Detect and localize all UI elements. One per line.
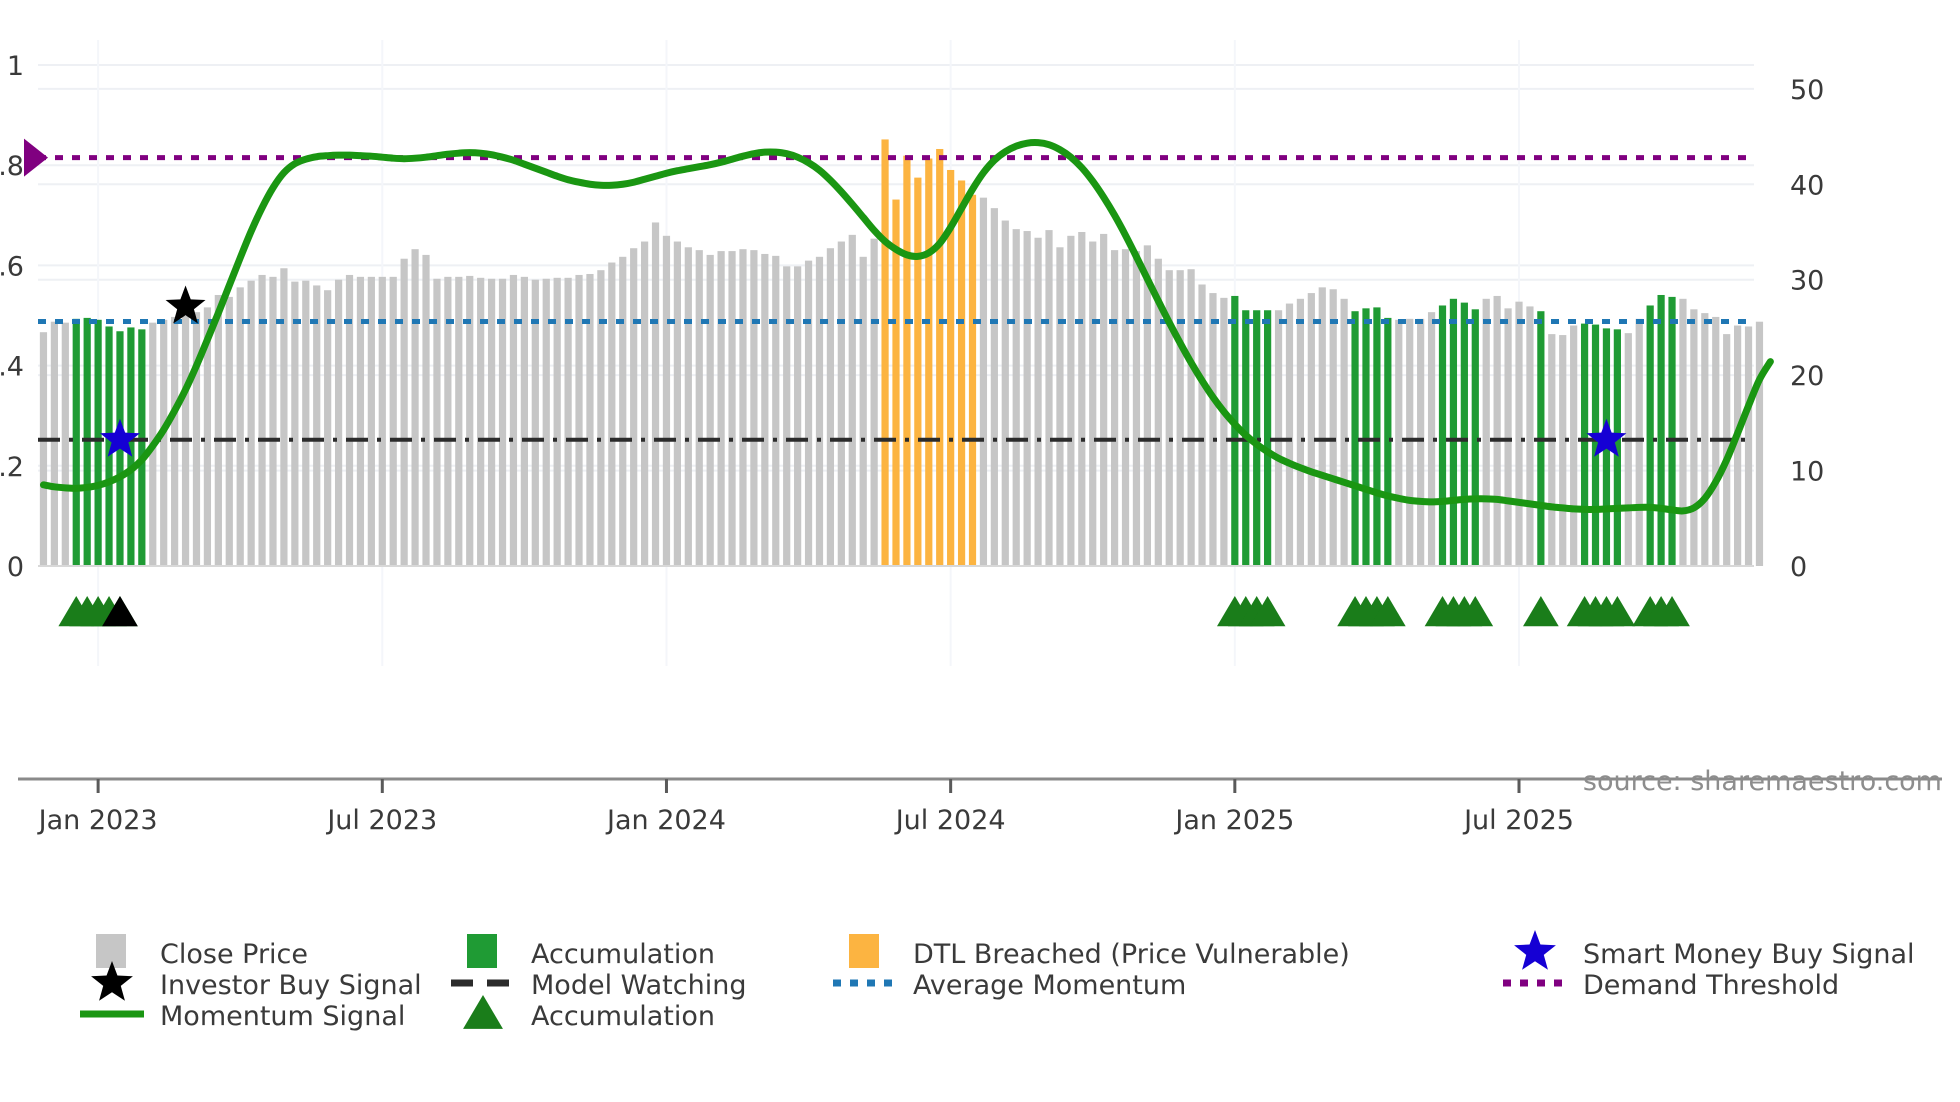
right-axis-tick: 0: [1790, 552, 1807, 583]
bar-close-price: [827, 248, 834, 566]
x-axis-tick-label: Jul 2025: [1462, 805, 1574, 836]
bar-close-price: [1395, 320, 1402, 566]
bar-dtl-breached: [925, 159, 932, 566]
bar-close-price: [794, 266, 801, 566]
bar-close-price: [1286, 304, 1293, 566]
bar-close-price: [980, 198, 987, 566]
bar-close-price: [1483, 299, 1490, 566]
left-axis-tick: 0.8: [0, 151, 24, 182]
bar-close-price: [488, 279, 495, 566]
bar-accumulation: [1384, 318, 1391, 566]
legend-label-accumulation: Accumulation: [531, 1001, 715, 1032]
bar-close-price: [728, 251, 735, 566]
legend-triangle-icon-accumulation: [463, 995, 503, 1029]
bar-close-price: [1177, 270, 1184, 566]
bar-close-price: [1067, 236, 1074, 566]
bar-close-price: [718, 251, 725, 566]
legend-item[interactable]: Accumulation: [463, 995, 715, 1032]
legend-item[interactable]: Smart Money Buy Signal: [1514, 930, 1914, 970]
right-axis-tick: 20: [1790, 361, 1824, 392]
left-axis-tick: 0.4: [0, 352, 24, 383]
bar-close-price: [860, 257, 867, 566]
legend-label-average-momentum: Average Momentum: [913, 970, 1186, 1001]
stock-momentum-chart: 00.20.40.60.8101020304050Jan 2023Jul 202…: [0, 0, 1960, 1102]
legend-swatch-accumulation: [467, 934, 497, 968]
legend-label-accumulation: Accumulation: [531, 939, 715, 970]
bar-close-price: [411, 249, 418, 566]
bar-close-price: [510, 275, 517, 566]
x-axis-tick-label: Jan 2024: [605, 805, 726, 836]
bar-close-price: [696, 250, 703, 566]
bar-close-price: [619, 257, 626, 566]
bar-close-price: [1494, 296, 1501, 566]
legend-item[interactable]: DTL Breached (Price Vulnerable): [849, 934, 1350, 970]
bar-close-price: [40, 332, 47, 566]
bar-close-price: [291, 282, 298, 566]
legend-label-investor-buy-signal: Investor Buy Signal: [160, 970, 422, 1001]
legend-swatch-dtl-breached-price-vulnerable-: [849, 934, 879, 968]
bar-close-price: [1701, 313, 1708, 566]
bar-close-price: [1034, 238, 1041, 566]
bar-close-price: [1089, 242, 1096, 566]
legend-item[interactable]: Momentum Signal: [80, 1001, 405, 1032]
bar-dtl-breached: [958, 180, 965, 566]
right-axis-tick: 30: [1790, 266, 1824, 297]
bar-close-price: [1111, 250, 1118, 566]
bar-dtl-breached: [903, 156, 910, 566]
bar-close-price: [641, 242, 648, 566]
bar-close-price: [630, 248, 637, 566]
bar-accumulation: [1450, 299, 1457, 566]
legend-label-dtl-breached-price-vulnerable-: DTL Breached (Price Vulnerable): [913, 939, 1350, 970]
bar-close-price: [674, 242, 681, 566]
bar-close-price: [1144, 245, 1151, 566]
bar-accumulation: [138, 329, 145, 566]
bar-close-price: [1308, 293, 1315, 566]
bar-close-price: [1013, 229, 1020, 566]
bar-close-price: [280, 268, 287, 566]
bar-close-price: [1133, 251, 1140, 566]
bar-dtl-breached: [881, 139, 888, 566]
bar-close-price: [1526, 306, 1533, 566]
bar-close-price: [1198, 284, 1205, 566]
legend-swatch-close-price: [96, 934, 126, 968]
legend-label-demand-threshold: Demand Threshold: [1583, 970, 1839, 1001]
bar-close-price: [335, 280, 342, 566]
bar-accumulation: [84, 318, 91, 566]
bar-accumulation: [73, 319, 80, 566]
bar-close-price: [1417, 319, 1424, 566]
bar-close-price: [1690, 309, 1697, 566]
bar-close-price: [871, 239, 878, 566]
legend-item[interactable]: Model Watching: [451, 970, 746, 1001]
x-axis-tick-label: Jan 2023: [37, 805, 158, 836]
bar-accumulation: [1472, 309, 1479, 566]
bar-close-price: [1504, 308, 1511, 566]
legend-star-icon-smart-money-buy-signal: [1514, 930, 1556, 970]
chart-root: 00.20.40.60.8101020304050Jan 2023Jul 202…: [0, 0, 1960, 1102]
bar-close-price: [1188, 269, 1195, 566]
bar-accumulation: [1657, 295, 1664, 566]
bar-accumulation: [1647, 305, 1654, 566]
bar-close-price: [422, 255, 429, 566]
bar-dtl-breached: [914, 178, 921, 566]
bar-close-price: [62, 323, 69, 566]
bar-close-price: [1625, 333, 1632, 566]
bar-close-price: [269, 277, 276, 566]
bar-close-price: [1679, 299, 1686, 566]
bar-close-price: [1220, 298, 1227, 566]
bar-close-price: [772, 256, 779, 566]
bar-accumulation: [1373, 307, 1380, 566]
bar-accumulation: [1362, 308, 1369, 566]
bar-close-price: [783, 266, 790, 566]
bar-close-price: [1341, 299, 1348, 566]
bar-close-price: [51, 322, 58, 566]
bar-close-price: [805, 261, 812, 566]
left-axis-tick: 0.6: [0, 251, 24, 282]
bar-close-price: [608, 263, 615, 566]
bar-close-price: [215, 295, 222, 566]
bar-close-price: [1515, 302, 1522, 566]
left-axis-tick: 1: [7, 51, 24, 82]
bar-close-price: [1100, 234, 1107, 566]
marker-triangle-accumulation: [1523, 596, 1559, 626]
bar-close-price: [707, 255, 714, 566]
legend-item[interactable]: Close Price: [96, 934, 308, 970]
bar-accumulation: [1351, 311, 1358, 566]
legend-item[interactable]: Average Momentum: [833, 970, 1186, 1001]
chart-legend: Close PriceAccumulationDTL Breached (Pri…: [80, 930, 1915, 1032]
bar-accumulation: [95, 320, 102, 566]
bar-accumulation: [1439, 305, 1446, 566]
bar-close-price: [346, 275, 353, 566]
bar-close-price: [1122, 249, 1129, 566]
bar-close-price: [160, 320, 167, 566]
left-axis-tick: 0: [7, 552, 24, 583]
bar-close-price: [313, 285, 320, 566]
bar-close-price: [652, 222, 659, 566]
bar-close-price: [1636, 319, 1643, 566]
bar-accumulation: [1581, 324, 1588, 566]
bar-close-price: [685, 247, 692, 566]
bar-close-price: [761, 254, 768, 566]
bar-close-price: [1406, 319, 1413, 566]
bar-close-price: [1559, 335, 1566, 566]
bar-close-price: [816, 257, 823, 566]
right-axis-tick: 50: [1790, 75, 1824, 106]
bar-close-price: [1209, 293, 1216, 566]
bar-close-price: [849, 235, 856, 566]
legend-label-model-watching: Model Watching: [531, 970, 746, 1001]
x-axis-tick-label: Jul 2024: [894, 805, 1006, 836]
bar-close-price: [663, 236, 670, 566]
legend-label-smart-money-buy-signal: Smart Money Buy Signal: [1583, 939, 1915, 970]
right-axis-tick: 40: [1790, 170, 1824, 201]
legend-item[interactable]: Demand Threshold: [1503, 970, 1839, 1001]
bar-close-price: [258, 275, 265, 566]
bar-close-price: [302, 281, 309, 566]
right-axis-tick: 10: [1790, 457, 1824, 488]
bar-close-price: [1319, 287, 1326, 566]
left-axis-tick: 0.2: [0, 452, 24, 483]
marker-arrow-demand-threshold-marker: [24, 139, 48, 177]
bar-dtl-breached: [969, 195, 976, 566]
x-axis-tick-label: Jul 2023: [325, 805, 437, 836]
bar-close-price: [991, 208, 998, 566]
bar-close-price: [193, 312, 200, 566]
bar-close-price: [455, 277, 462, 566]
bar-close-price: [838, 242, 845, 566]
bar-close-price: [324, 290, 331, 566]
bar-close-price: [237, 287, 244, 566]
legend-item[interactable]: Accumulation: [467, 934, 715, 970]
bar-accumulation: [1668, 297, 1675, 566]
bar-close-price: [1002, 221, 1009, 566]
bar-close-price: [1078, 232, 1085, 566]
bar-close-price: [1024, 231, 1031, 566]
bar-close-price: [1056, 247, 1063, 566]
bar-close-price: [575, 275, 582, 566]
bar-close-price: [1570, 326, 1577, 566]
bar-close-price: [1045, 230, 1052, 566]
bar-close-price: [739, 249, 746, 566]
bar-close-price: [1756, 322, 1763, 566]
bar-close-price: [401, 259, 408, 566]
bar-close-price: [750, 250, 757, 566]
bar-close-price: [586, 274, 593, 566]
bar-dtl-breached: [936, 149, 943, 566]
bar-close-price: [1548, 334, 1555, 566]
bar-accumulation: [1461, 303, 1468, 566]
legend-label-momentum-signal: Momentum Signal: [160, 1001, 405, 1032]
bar-close-price: [1745, 326, 1752, 566]
source-watermark: source: sharemaestro.com: [1583, 766, 1942, 797]
bar-close-price: [226, 297, 233, 566]
bar-close-price: [597, 270, 604, 566]
legend-label-close-price: Close Price: [160, 939, 308, 970]
bar-close-price: [1330, 289, 1337, 566]
x-axis-tick-label: Jan 2025: [1173, 805, 1294, 836]
bar-close-price: [1297, 299, 1304, 566]
